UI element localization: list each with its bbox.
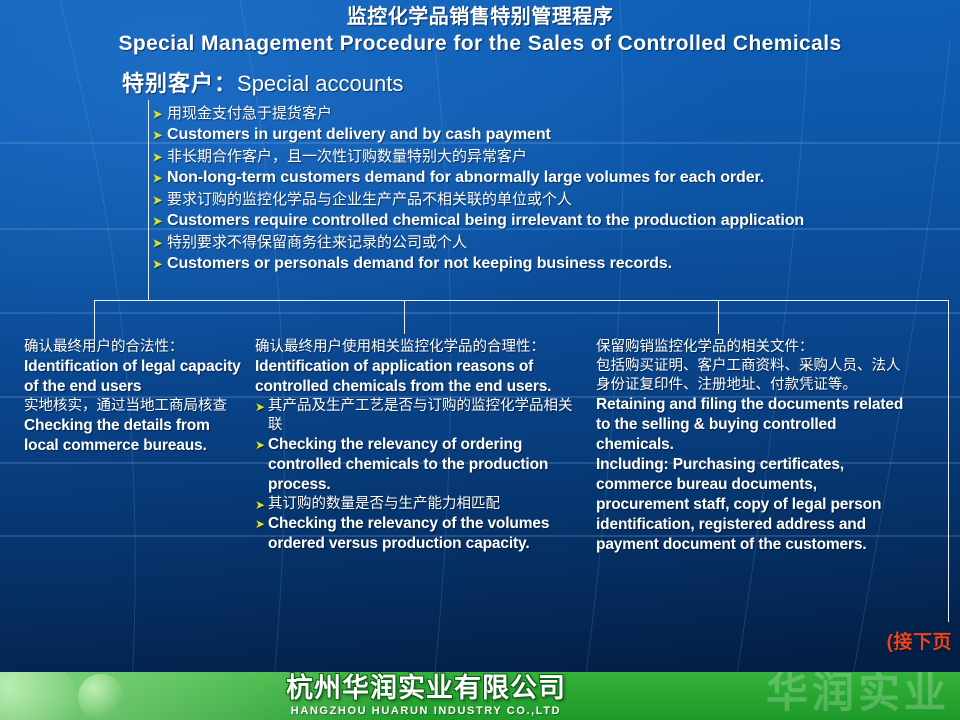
column-text: 确认最终用户的合法性： xyxy=(24,339,184,355)
bullet-item: ➤特别要求不得保留商务往来记录的公司或个人 xyxy=(152,232,952,253)
footer-logo-band: 华润实业 杭州华润实业有限公司 HANGZHOU HUARUN INDUSTRY… xyxy=(0,672,960,720)
column-text: 保留购销监控化学品的相关文件： xyxy=(596,339,814,355)
bullet-item: ➤非长期合作客户，且一次性订购数量特别大的异常客户 xyxy=(152,146,952,167)
bullet-item: ➤用现金支付急于提货客户 xyxy=(152,103,952,124)
connector-drop-column-3 xyxy=(718,300,719,334)
section-heading-english: Special accounts xyxy=(237,71,403,96)
bullet-arrow-icon: ➤ xyxy=(255,438,265,452)
title-english: Special Management Procedure for the Sal… xyxy=(0,30,960,57)
bullet-arrow-icon: ➤ xyxy=(152,258,163,271)
column-text: 确认最终用户使用相关监控化学品的合理性： xyxy=(255,339,545,355)
column-legal-capacity: 确认最终用户的合法性：Identification of legal capac… xyxy=(24,338,242,456)
logo-watermark: 华润实业 xyxy=(766,672,950,718)
column-paragraph: Retaining and filing the documents relat… xyxy=(596,395,914,455)
bullet-item: ➤Customers require controlled chemical b… xyxy=(152,210,952,232)
column-text: Checking the details from local commerce… xyxy=(24,417,210,454)
decorative-bubble-small xyxy=(78,674,124,720)
connector-drop-column-2 xyxy=(404,300,405,334)
column-text: Identification of legal capacity of the … xyxy=(24,358,241,395)
bullet-item: ➤Customers or personals demand for not k… xyxy=(152,253,952,275)
column-paragraph: Checking the details from local commerce… xyxy=(24,416,242,456)
bullet-arrow-icon: ➤ xyxy=(152,107,163,120)
bullet-arrow-icon: ➤ xyxy=(152,172,163,185)
title-chinese: 监控化学品销售特别管理程序 xyxy=(0,4,960,30)
column-paragraph: Identification of application reasons of… xyxy=(255,357,585,397)
column-text: 其产品及生产工艺是否与订购的监控化学品相关联 xyxy=(268,398,573,433)
bullet-text: 特别要求不得保留商务往来记录的公司或个人 xyxy=(167,234,467,251)
bullet-arrow-icon: ➤ xyxy=(255,498,265,512)
column-paragraph: 确认最终用户使用相关监控化学品的合理性： xyxy=(255,338,585,357)
bullet-arrow-icon: ➤ xyxy=(152,236,163,249)
bullet-item: ➤Non-long-term customers demand for abno… xyxy=(152,167,952,189)
decorative-bubble-large xyxy=(0,672,80,720)
column-paragraph: 包括购买证明、客户工商资料、采购人员、法人身份证复印件、注册地址、付款凭证等。 xyxy=(596,357,914,395)
bullet-text: 要求订购的监控化学品与企业生产产品不相关联的单位或个人 xyxy=(167,191,572,208)
bullet-text: 用现金支付急于提货客户 xyxy=(167,105,332,122)
logo-text-chinese: 杭州华润实业有限公司 xyxy=(196,675,656,702)
column-text: 包括购买证明、客户工商资料、采购人员、法人身份证复印件、注册地址、付款凭证等。 xyxy=(596,358,901,393)
bullet-item: ➤Customers in urgent delivery and by cas… xyxy=(152,124,952,146)
column-text: 其订购的数量是否与生产能力相匹配 xyxy=(268,496,500,512)
column-document-retention: 保留购销监控化学品的相关文件：包括购买证明、客户工商资料、采购人员、法人身份证复… xyxy=(596,338,914,555)
column-paragraph: 实地核实，通过当地工商局核查 xyxy=(24,397,242,416)
section-heading: 特别客户：Special accounts xyxy=(122,70,403,98)
bullet-text: Customers in urgent delivery and by cash… xyxy=(167,126,551,143)
column-text: Including: Purchasing certificates, comm… xyxy=(596,456,881,553)
bullet-text: Non-long-term customers demand for abnor… xyxy=(167,169,764,186)
column-sub-bullet: ➤其订购的数量是否与生产能力相匹配 xyxy=(255,495,585,514)
bullet-text: Customers or personals demand for not ke… xyxy=(167,255,672,272)
column-paragraph: 保留购销监控化学品的相关文件： xyxy=(596,338,914,357)
bullet-arrow-icon: ➤ xyxy=(152,193,163,206)
special-accounts-bullet-list: ➤用现金支付急于提货客户➤Customers in urgent deliver… xyxy=(152,103,952,275)
column-text: Identification of application reasons of… xyxy=(255,358,551,395)
bullet-arrow-icon: ➤ xyxy=(255,517,265,531)
column-paragraph: Identification of legal capacity of the … xyxy=(24,357,242,397)
connector-horizontal-bus xyxy=(94,300,949,301)
company-logo: 杭州华润实业有限公司 HANGZHOU HUARUN INDUSTRY CO.,… xyxy=(196,675,656,717)
column-application-reasons: 确认最终用户使用相关监控化学品的合理性：Identification of ap… xyxy=(255,338,585,554)
continued-marker: (接下页 xyxy=(887,632,952,654)
bullet-text: Customers require controlled chemical be… xyxy=(167,212,804,229)
column-text: 实地核实，通过当地工商局核查 xyxy=(24,398,227,414)
bullet-arrow-icon: ➤ xyxy=(152,215,163,228)
column-text: Retaining and filing the documents relat… xyxy=(596,396,903,453)
bullet-arrow-icon: ➤ xyxy=(152,129,163,142)
connector-stem-vertical xyxy=(148,100,149,300)
connector-right-rail xyxy=(948,300,949,622)
bullet-arrow-icon: ➤ xyxy=(255,400,265,414)
bullet-item: ➤要求订购的监控化学品与企业生产产品不相关联的单位或个人 xyxy=(152,189,952,210)
column-text: Checking the relevancy of the volumes or… xyxy=(268,515,549,552)
connector-drop-column-1 xyxy=(94,300,95,340)
column-sub-bullet: ➤其产品及生产工艺是否与订购的监控化学品相关联 xyxy=(255,397,585,435)
bullet-arrow-icon: ➤ xyxy=(152,150,163,163)
bullet-text: 非长期合作客户，且一次性订购数量特别大的异常客户 xyxy=(167,148,527,165)
column-paragraph: 确认最终用户的合法性： xyxy=(24,338,242,357)
column-sub-bullet: ➤Checking the relevancy of ordering cont… xyxy=(255,435,585,495)
column-text: Checking the relevancy of ordering contr… xyxy=(268,436,548,493)
slide-title: 监控化学品销售特别管理程序 Special Management Procedu… xyxy=(0,4,960,57)
column-paragraph: Including: Purchasing certificates, comm… xyxy=(596,455,914,555)
logo-text-english: HANGZHOU HUARUN INDUSTRY CO.,LTD xyxy=(196,706,656,717)
column-sub-bullet: ➤Checking the relevancy of the volumes o… xyxy=(255,514,585,554)
section-heading-chinese: 特别客户： xyxy=(122,71,237,96)
slide-canvas: 监控化学品销售特别管理程序 Special Management Procedu… xyxy=(0,0,960,720)
